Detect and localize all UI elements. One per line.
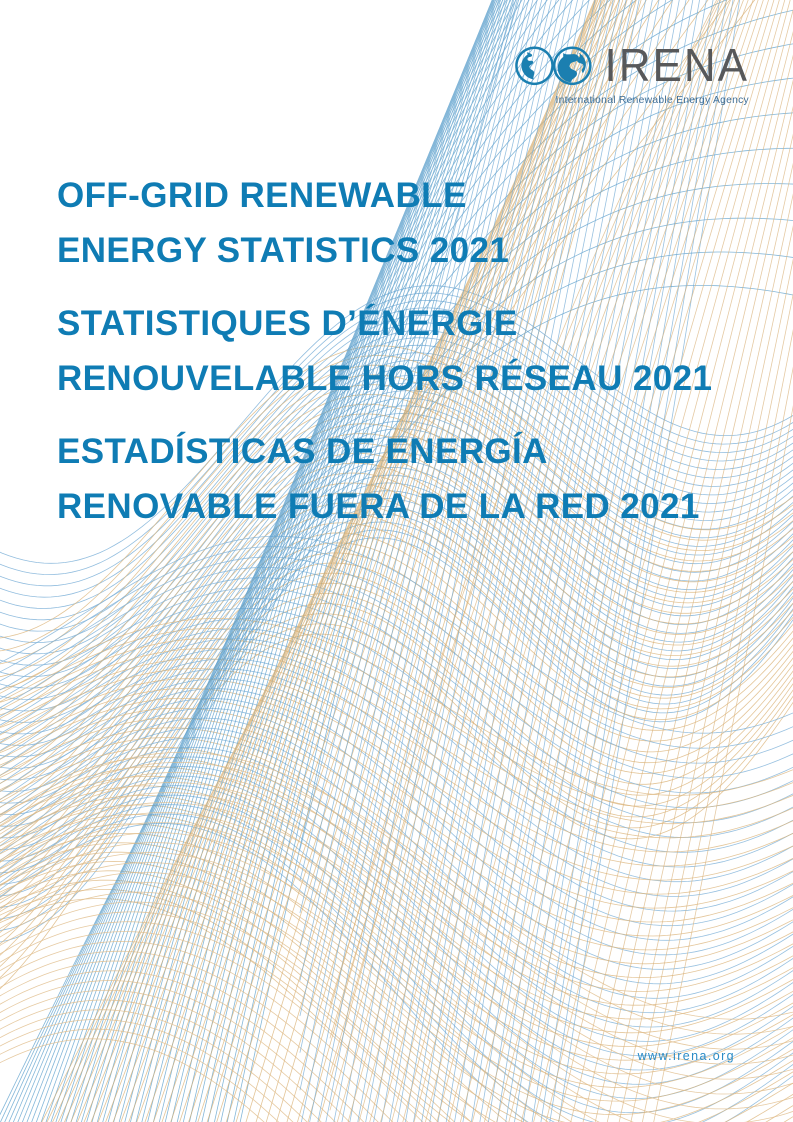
page-title-fr: STATISTIQUES D’ÉNERGIE xyxy=(57,296,712,351)
title-block-es: ESTADÍSTICAS DE ENERGÍA RENOVABLE FUERA … xyxy=(57,424,712,534)
website-url[interactable]: www.irena.org xyxy=(638,1049,735,1063)
logo-row: IRENA xyxy=(514,44,749,88)
logo-tagline: International Renewable Energy Agency xyxy=(514,95,749,106)
page-title: OFF-GRID RENEWABLE xyxy=(57,168,712,223)
title-block-en: OFF-GRID RENEWABLE ENERGY STATISTICS 202… xyxy=(57,168,712,278)
page-title-line2: ENERGY STATISTICS 2021 xyxy=(57,223,712,278)
cover-page: IRENA International Renewable Energy Age… xyxy=(0,0,793,1122)
twin-globes-icon xyxy=(514,45,596,87)
page-title-es-line2: RENOVABLE FUERA DE LA RED 2021 xyxy=(57,479,712,534)
title-block-fr: STATISTIQUES D’ÉNERGIE RENOUVELABLE HORS… xyxy=(57,296,712,406)
page-title-es: ESTADÍSTICAS DE ENERGÍA xyxy=(57,424,712,479)
irena-logo: IRENA International Renewable Energy Age… xyxy=(514,44,749,106)
logo-wordmark: IRENA xyxy=(605,43,749,90)
cover-titles: OFF-GRID RENEWABLE ENERGY STATISTICS 202… xyxy=(57,168,712,534)
page-title-fr-line2: RENOUVELABLE HORS RÉSEAU 2021 xyxy=(57,351,712,406)
